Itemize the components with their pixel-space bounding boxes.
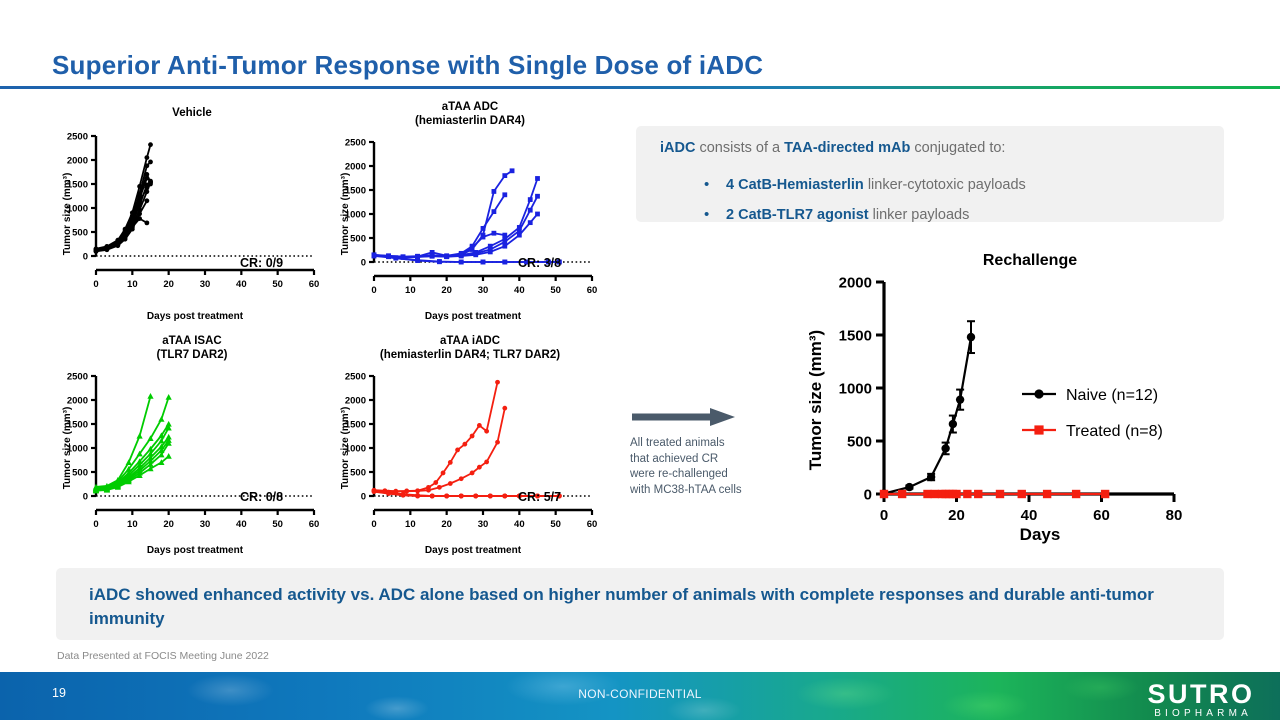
svg-text:40: 40 xyxy=(236,519,247,530)
svg-text:10: 10 xyxy=(405,285,416,296)
logo-ring-icon: O xyxy=(1231,679,1252,709)
right-arrow-icon xyxy=(630,406,740,428)
panel-atta-adc-title: aTAA ADC (hemiasterlin DAR4) xyxy=(330,100,610,128)
svg-text:30: 30 xyxy=(200,279,211,290)
source-note: Data Presented at FOCIS Meeting June 202… xyxy=(57,650,269,662)
panel-rechallenge-title: Rechallenge xyxy=(870,252,1190,270)
panel-atta-isac-cr: CR: 0/8 xyxy=(240,490,283,504)
svg-text:1000: 1000 xyxy=(67,443,88,454)
panel-atta-adc-cr: CR: 3/8 xyxy=(518,256,561,270)
svg-text:50: 50 xyxy=(272,279,283,290)
svg-text:20: 20 xyxy=(441,285,452,296)
svg-text:500: 500 xyxy=(72,227,88,238)
svg-text:20: 20 xyxy=(163,519,174,530)
callout-headline: iADC consists of a TAA-directed mAb conj… xyxy=(660,140,1005,156)
panel-vehicle-cr: CR: 0/9 xyxy=(240,256,283,270)
page-title: Superior Anti-Tumor Response with Single… xyxy=(52,50,763,81)
svg-text:50: 50 xyxy=(272,519,283,530)
svg-text:60: 60 xyxy=(309,279,320,290)
svg-text:60: 60 xyxy=(587,285,598,296)
callout-bullet-item: 2 CatB-TLR7 agonist linker payloads xyxy=(700,200,1026,230)
logo-subtitle: BIOPHARMA xyxy=(1147,708,1252,720)
panel-vehicle-plot: 050010001500200025000102030405060 xyxy=(52,128,332,298)
svg-text:0: 0 xyxy=(880,507,888,524)
conclusion-text: iADC showed enhanced activity vs. ADC al… xyxy=(89,583,1179,631)
slide-footer: 19 NON-CONFIDENTIAL SUTRO BIOPHARMA xyxy=(0,672,1280,720)
panel-vehicle-title: Vehicle xyxy=(52,106,332,120)
svg-text:60: 60 xyxy=(1093,507,1110,524)
panel-rechallenge-xlabel: Days xyxy=(940,525,1140,545)
panel-atta-adc-plot: 050010001500200025000102030405060 xyxy=(330,134,610,304)
svg-text:2000: 2000 xyxy=(345,161,366,172)
svg-text:0: 0 xyxy=(83,251,88,262)
svg-text:1500: 1500 xyxy=(345,185,366,196)
svg-text:30: 30 xyxy=(478,519,489,530)
logo-wordmark: SUTRO xyxy=(1147,680,1252,708)
iadc-definition-callout: iADC consists of a TAA-directed mAb conj… xyxy=(636,126,1224,222)
svg-text:1000: 1000 xyxy=(345,209,366,220)
svg-text:0: 0 xyxy=(361,257,366,268)
panel-rechallenge-plot: 0500100015002000020406080Naive (n=12)Tre… xyxy=(826,272,1196,542)
panel-vehicle: Vehicle Tumor size (mm³) 050010001500200… xyxy=(52,106,332,306)
svg-text:2500: 2500 xyxy=(67,371,88,382)
svg-text:2000: 2000 xyxy=(67,155,88,166)
panel-atta-adc-xlabel: Days post treatment xyxy=(348,311,598,322)
callout-bullet-list: 4 CatB-Hemiasterlin linker-cytotoxic pay… xyxy=(700,170,1026,230)
panel-atta-iadc: aTAA iADC (hemiasterlin DAR4; TLR7 DAR2)… xyxy=(330,334,610,540)
svg-text:10: 10 xyxy=(405,519,416,530)
panel-atta-iadc-plot: 050010001500200025000102030405060 xyxy=(330,368,610,538)
panel-vehicle-xlabel: Days post treatment xyxy=(70,311,320,322)
svg-text:50: 50 xyxy=(550,519,561,530)
svg-text:2500: 2500 xyxy=(67,131,88,142)
svg-text:2500: 2500 xyxy=(345,371,366,382)
svg-text:500: 500 xyxy=(72,467,88,478)
svg-text:1000: 1000 xyxy=(839,381,872,398)
panel-atta-adc-title-line1: aTAA ADC xyxy=(442,101,498,113)
svg-text:0: 0 xyxy=(93,519,98,530)
svg-text:1500: 1500 xyxy=(839,328,872,345)
panel-atta-adc: aTAA ADC (hemiasterlin DAR4) Tumor size … xyxy=(330,100,610,306)
svg-text:Treated (n=8): Treated (n=8) xyxy=(1066,423,1163,440)
svg-text:40: 40 xyxy=(236,279,247,290)
svg-text:20: 20 xyxy=(441,519,452,530)
svg-text:0: 0 xyxy=(864,487,872,504)
svg-text:500: 500 xyxy=(847,434,872,451)
svg-text:500: 500 xyxy=(350,467,366,478)
svg-text:1000: 1000 xyxy=(345,443,366,454)
svg-text:20: 20 xyxy=(948,507,965,524)
panel-atta-isac-title: aTAA ISAC (TLR7 DAR2) xyxy=(52,334,332,362)
svg-text:500: 500 xyxy=(350,233,366,244)
svg-text:0: 0 xyxy=(371,285,376,296)
svg-text:30: 30 xyxy=(200,519,211,530)
svg-text:0: 0 xyxy=(361,491,366,502)
panel-atta-iadc-cr: CR: 5/7 xyxy=(518,490,561,504)
svg-text:40: 40 xyxy=(514,285,525,296)
panel-atta-isac-title-line2: (TLR7 DAR2) xyxy=(52,348,332,362)
svg-text:1500: 1500 xyxy=(345,419,366,430)
panel-atta-isac-title-line1: aTAA ISAC xyxy=(162,335,221,347)
svg-text:2000: 2000 xyxy=(345,395,366,406)
svg-text:50: 50 xyxy=(550,285,561,296)
panel-atta-iadc-title-line1: aTAA iADC xyxy=(440,335,500,347)
svg-text:40: 40 xyxy=(1021,507,1038,524)
svg-text:10: 10 xyxy=(127,279,138,290)
svg-text:0: 0 xyxy=(93,279,98,290)
svg-text:0: 0 xyxy=(83,491,88,502)
panel-atta-isac-xlabel: Days post treatment xyxy=(70,545,320,556)
sutro-logo: SUTRO BIOPHARMA xyxy=(1147,680,1252,720)
rechallenge-annotation: All treated animalsthat achieved CRwere … xyxy=(630,406,810,498)
panel-rechallenge-ylabel: Tumor size (mm³) xyxy=(806,330,826,470)
panel-atta-iadc-xlabel: Days post treatment xyxy=(348,545,598,556)
panel-atta-isac-plot: 050010001500200025000102030405060 xyxy=(52,368,332,538)
conclusion-banner: iADC showed enhanced activity vs. ADC al… xyxy=(56,568,1224,640)
panel-atta-isac: aTAA ISAC (TLR7 DAR2) Tumor size (mm³) 0… xyxy=(52,334,332,540)
svg-text:1500: 1500 xyxy=(67,179,88,190)
svg-text:2000: 2000 xyxy=(67,395,88,406)
logo-word-text: SUTR xyxy=(1147,679,1231,709)
confidentiality-label: NON-CONFIDENTIAL xyxy=(0,687,1280,701)
svg-text:80: 80 xyxy=(1166,507,1183,524)
svg-text:1500: 1500 xyxy=(67,419,88,430)
svg-text:10: 10 xyxy=(127,519,138,530)
svg-text:60: 60 xyxy=(587,519,598,530)
svg-text:Naive (n=12): Naive (n=12) xyxy=(1066,387,1158,404)
rechallenge-annotation-text: All treated animalsthat achieved CRwere … xyxy=(630,436,810,498)
svg-text:2000: 2000 xyxy=(839,275,872,292)
svg-text:20: 20 xyxy=(163,279,174,290)
panel-atta-iadc-title: aTAA iADC (hemiasterlin DAR4; TLR7 DAR2) xyxy=(330,334,610,362)
svg-text:2500: 2500 xyxy=(345,137,366,148)
panel-atta-adc-title-line2: (hemiasterlin DAR4) xyxy=(330,114,610,128)
svg-text:40: 40 xyxy=(514,519,525,530)
title-divider xyxy=(0,86,1280,89)
panel-vehicle-title-line1: Vehicle xyxy=(172,107,212,119)
svg-text:0: 0 xyxy=(371,519,376,530)
callout-bullet-item: 4 CatB-Hemiasterlin linker-cytotoxic pay… xyxy=(700,170,1026,200)
svg-text:60: 60 xyxy=(309,519,320,530)
svg-text:30: 30 xyxy=(478,285,489,296)
slide-root: Superior Anti-Tumor Response with Single… xyxy=(0,0,1280,720)
svg-text:1000: 1000 xyxy=(67,203,88,214)
panel-atta-iadc-title-line2: (hemiasterlin DAR4; TLR7 DAR2) xyxy=(330,348,610,362)
